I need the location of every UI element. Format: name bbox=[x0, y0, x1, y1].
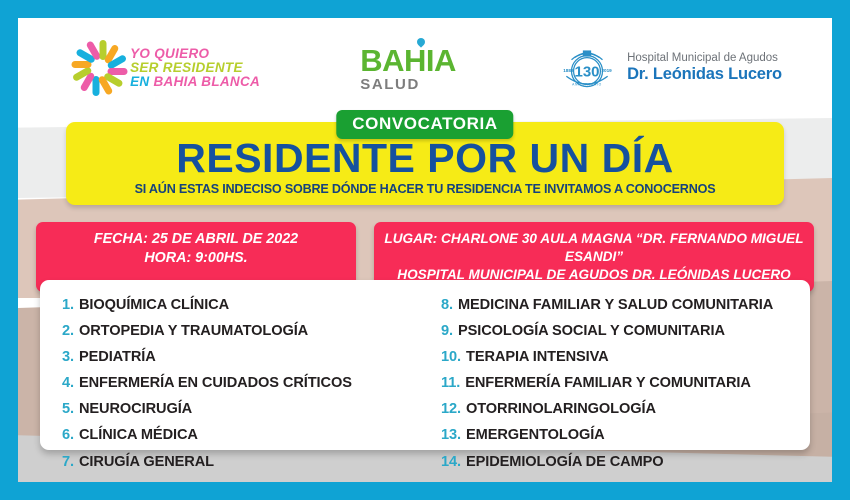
hospital-line1: Hospital Municipal de Agudos bbox=[627, 52, 782, 65]
poster-root: YO QUIERO SER RESIDENTE EN BAHIA BLANCA … bbox=[0, 0, 850, 500]
specialties-card: 1.BIOQUÍMICA CLÍNICA2.ORTOPEDIA Y TRAUMA… bbox=[40, 280, 810, 450]
banner-subtitle: SI AÚN ESTAS INDECISO SOBRE DÓNDE HACER … bbox=[76, 182, 774, 196]
list-item-number: 6. bbox=[62, 428, 74, 443]
list-item-number: 12. bbox=[441, 402, 461, 417]
list-item: 10.TERAPIA INTENSIVA bbox=[441, 350, 798, 365]
logo-residente-line3: EN BAHIA BLANCA bbox=[130, 75, 260, 89]
list-item-label: ORTOPEDIA Y TRAUMATOLOGÍA bbox=[79, 324, 308, 339]
list-item-number: 7. bbox=[62, 455, 74, 470]
list-item-number: 11. bbox=[441, 376, 460, 391]
list-item: 6.CLÍNICA MÉDICA bbox=[62, 428, 419, 443]
emblem-year-right-text: 2019 bbox=[602, 68, 613, 73]
list-item: 3.PEDIATRÍA bbox=[62, 350, 419, 365]
hospital-line2: Dr. Leónidas Lucero bbox=[627, 65, 782, 83]
logo-residente-text: YO QUIERO SER RESIDENTE EN BAHIA BLANCA bbox=[130, 47, 260, 88]
list-item-label: ENFERMERÍA EN CUIDADOS CRÍTICOS bbox=[79, 376, 352, 391]
list-item-number: 4. bbox=[62, 376, 74, 391]
list-item-number: 13. bbox=[441, 428, 461, 443]
list-item-number: 9. bbox=[441, 324, 453, 339]
anniversary-emblem-icon: 130 1889 2019 ANIVERSARIO bbox=[556, 42, 618, 94]
logo-residente-line3-a: EN bbox=[130, 74, 153, 89]
emblem-year-left-text: 1889 bbox=[563, 68, 574, 73]
poster-canvas: YO QUIERO SER RESIDENTE EN BAHIA BLANCA … bbox=[18, 18, 832, 482]
list-item-number: 14. bbox=[441, 455, 461, 470]
list-item: 9.PSICOLOGÍA SOCIAL Y COMUNITARIA bbox=[441, 324, 798, 339]
list-item-label: PEDIATRÍA bbox=[79, 350, 156, 365]
list-item-label: ENFERMERÍA FAMILIAR Y COMUNITARIA bbox=[465, 376, 751, 391]
list-item-label: OTORRINOLARINGOLOGÍA bbox=[466, 402, 656, 417]
list-item-label: MEDICINA FAMILIAR Y SALUD COMUNITARIA bbox=[458, 298, 773, 313]
list-item: 12.OTORRINOLARINGOLOGÍA bbox=[441, 402, 798, 417]
list-item-label: CIRUGÍA GENERAL bbox=[79, 455, 214, 470]
list-item-label: CLÍNICA MÉDICA bbox=[79, 428, 198, 443]
logo-residente-line3-b: BAHIA BLANCA bbox=[153, 74, 260, 89]
list-item-label: NEUROCIRUGÍA bbox=[79, 402, 192, 417]
list-item-number: 8. bbox=[441, 298, 453, 313]
list-item: 8.MEDICINA FAMILIAR Y SALUD COMUNITARIA bbox=[441, 298, 798, 313]
header-logos: YO QUIERO SER RESIDENTE EN BAHIA BLANCA … bbox=[18, 18, 832, 118]
list-item: 5.NEUROCIRUGÍA bbox=[62, 402, 419, 417]
logo-bahia-salud: BAHIA SALUD bbox=[360, 45, 456, 92]
specialties-column-left: 1.BIOQUÍMICA CLÍNICA2.ORTOPEDIA Y TRAUMA… bbox=[62, 298, 419, 440]
list-item-number: 10. bbox=[441, 350, 461, 365]
list-item-number: 3. bbox=[62, 350, 74, 365]
list-item-label: EMERGENTOLOGÍA bbox=[466, 428, 605, 443]
list-item: 4.ENFERMERÍA EN CUIDADOS CRÍTICOS bbox=[62, 376, 419, 391]
list-item: 11.ENFERMERÍA FAMILIAR Y COMUNITARIA bbox=[441, 376, 798, 391]
convocatoria-badge: CONVOCATORIA bbox=[336, 110, 513, 139]
hospital-name-block: Hospital Municipal de Agudos Dr. Leónida… bbox=[627, 52, 782, 83]
time-line: HORA: 9:00HS. bbox=[46, 249, 346, 268]
logo-residente-line2: SER RESIDENTE bbox=[130, 61, 260, 75]
list-item: 14.EPIDEMIOLOGÍA DE CAMPO bbox=[441, 455, 798, 470]
date-line: FECHA: 25 DE ABRIL DE 2022 bbox=[46, 230, 346, 249]
specialties-column-right: 8.MEDICINA FAMILIAR Y SALUD COMUNITARIA9… bbox=[419, 298, 798, 440]
logo-residente-line1: YO QUIERO bbox=[130, 47, 260, 61]
list-item-number: 1. bbox=[62, 298, 74, 313]
logo-hospital-municipal: 130 1889 2019 ANIVERSARIO Hospital Munic… bbox=[556, 42, 782, 94]
logo-bahia-main: BAHIA bbox=[360, 45, 456, 76]
list-item-label: PSICOLOGÍA SOCIAL Y COMUNITARIA bbox=[458, 324, 725, 339]
logo-bahia-sub: SALUD bbox=[360, 77, 456, 92]
list-item: 13.EMERGENTOLOGÍA bbox=[441, 428, 798, 443]
list-item-number: 2. bbox=[62, 324, 74, 339]
people-circle-icon bbox=[68, 40, 124, 96]
place-line1: LUGAR: CHARLONE 30 AULA MAGNA “DR. FERNA… bbox=[384, 230, 804, 266]
list-item: 2.ORTOPEDIA Y TRAUMATOLOGÍA bbox=[62, 324, 419, 339]
list-item: 1.BIOQUÍMICA CLÍNICA bbox=[62, 298, 419, 313]
page-title: RESIDENTE POR UN DÍA bbox=[76, 138, 774, 179]
list-item-label: EPIDEMIOLOGÍA DE CAMPO bbox=[466, 455, 664, 470]
list-item: 7.CIRUGÍA GENERAL bbox=[62, 455, 419, 470]
emblem-number-text: 130 bbox=[575, 63, 600, 80]
list-item-number: 5. bbox=[62, 402, 74, 417]
list-item-label: BIOQUÍMICA CLÍNICA bbox=[79, 298, 229, 313]
emblem-ribbon-text: ANIVERSARIO bbox=[572, 83, 602, 87]
logo-yo-quiero-ser-residente: YO QUIERO SER RESIDENTE EN BAHIA BLANCA bbox=[68, 40, 260, 96]
list-item-label: TERAPIA INTENSIVA bbox=[466, 350, 609, 365]
